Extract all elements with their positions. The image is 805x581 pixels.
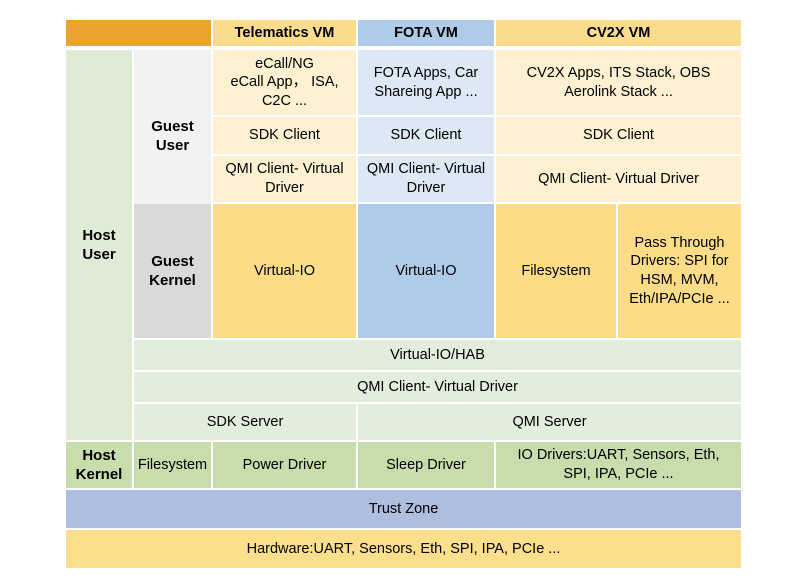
host-kernel-power-driver: Power Driver <box>213 442 356 488</box>
trust-zone-bar: Trust Zone <box>66 490 741 528</box>
host-kernel-filesystem: Filesystem <box>134 442 211 488</box>
qmi-client-virtual-driver-bar: QMI Client- Virtual Driver <box>134 372 741 402</box>
app-box-cv2x: CV2X Apps, ITS Stack, OBS Aerolink Stack… <box>496 50 741 115</box>
guest-kernel-label: Guest Kernel <box>134 204 211 338</box>
sdk-client-cv2x: SDK Client <box>496 117 741 154</box>
qmi-client-fota: QMI Client- Virtual Driver <box>358 156 494 202</box>
virtual-io-hab-bar: Virtual-IO/HAB <box>134 340 741 370</box>
sdk-client-fota: SDK Client <box>358 117 494 154</box>
architecture-diagram: Telematics VM FOTA VM CV2X VM Host User … <box>66 20 741 548</box>
app-box-telematics: eCall/NG eCall App， ISA, C2C ... <box>213 50 356 115</box>
filesystem-cv2x: Filesystem <box>496 204 616 338</box>
virtual-io-telematics: Virtual-IO <box>213 204 356 338</box>
app-box-fota: FOTA Apps, Car Shareing App ... <box>358 50 494 115</box>
qmi-client-cv2x: QMI Client- Virtual Driver <box>496 156 741 202</box>
sdk-server-bar: SDK Server <box>134 404 356 440</box>
header-telematics-vm: Telematics VM <box>213 20 356 46</box>
host-kernel-sleep-driver: Sleep Driver <box>358 442 494 488</box>
pass-through-drivers-cv2x: Pass Through Drivers: SPI for HSM, MVM, … <box>618 204 741 338</box>
header-fota-vm: FOTA VM <box>358 20 494 46</box>
sdk-client-telematics: SDK Client <box>213 117 356 154</box>
host-kernel-io-drivers: IO Drivers:UART, Sensors, Eth, SPI, IPA,… <box>496 442 741 488</box>
host-kernel-label: Host Kernel <box>66 442 132 488</box>
header-cv2x-vm: CV2X VM <box>496 20 741 46</box>
qmi-server-bar: QMI Server <box>358 404 741 440</box>
hardware-bar: Hardware:UART, Sensors, Eth, SPI, IPA, P… <box>66 530 741 568</box>
virtual-io-fota: Virtual-IO <box>358 204 494 338</box>
host-user-label: Host User <box>66 50 132 440</box>
guest-user-label: Guest User <box>134 50 211 222</box>
qmi-client-telematics: QMI Client- Virtual Driver <box>213 156 356 202</box>
header-blank-cell <box>66 20 211 46</box>
